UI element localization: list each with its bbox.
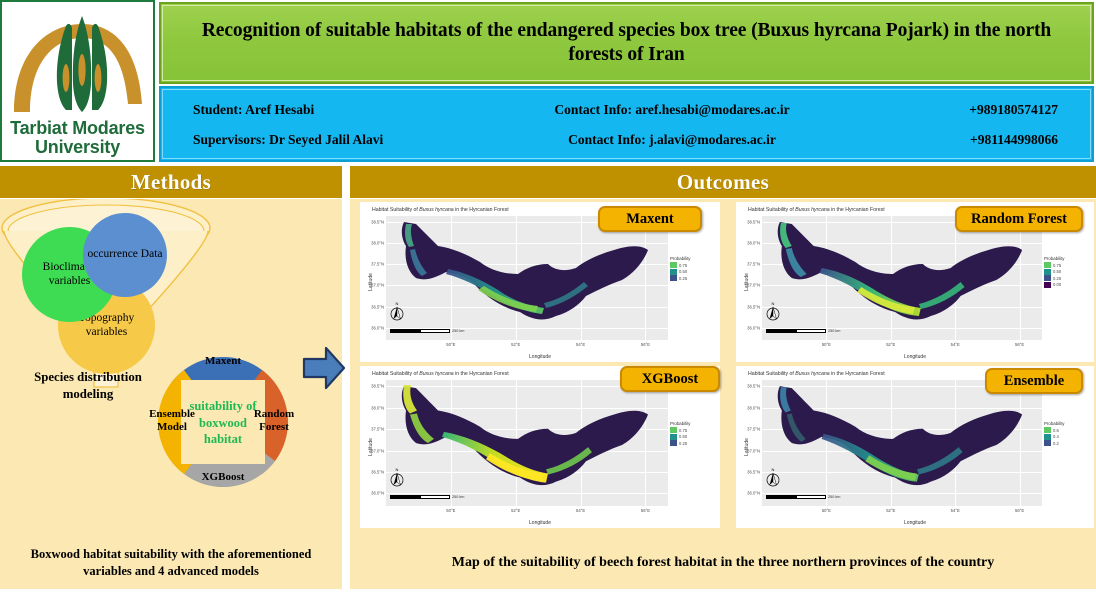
logo-line-1: Tarbiat Modares <box>2 119 153 137</box>
y-axis-label: Latitude <box>744 273 750 291</box>
x-tick: 50°E <box>822 508 831 513</box>
legend-swatch <box>670 434 677 440</box>
legend-item: 0.50 <box>670 269 716 275</box>
legend-swatch <box>670 427 677 433</box>
habitat-suitability-raster <box>386 380 668 506</box>
x-axis-label: Longitude <box>736 354 1094 360</box>
contact-phone: +989180574127 <box>837 102 1076 118</box>
habitat-suitability-raster <box>386 216 668 340</box>
legend-value: 0.00 <box>1053 282 1061 287</box>
y-tick: 36.0°N <box>747 325 760 330</box>
map-title-suffix: in the Hyrcanian Forest <box>454 371 509 377</box>
map-title: Habitat Suitability of Buxus hyrcana in … <box>372 207 509 213</box>
legend-item: 0.25 <box>1044 275 1090 281</box>
x-tick: 54°E <box>951 342 960 347</box>
legend-swatch <box>670 262 677 268</box>
page-title: Recognition of suitable habitats of the … <box>161 19 1092 67</box>
contact-person: Supervisors: Dr Seyed Jalil Alavi <box>177 132 507 148</box>
plot-area: 38.5°N 38.0°N 37.5°N 37.0°N 36.5°N 36.0°… <box>762 380 1042 506</box>
legend: Probability 0.75 0.50 0.25 0.00 <box>1044 256 1090 288</box>
map-title-suffix: in the Hyrcanian Forest <box>830 371 885 377</box>
y-tick: 36.5°N <box>371 469 384 474</box>
y-tick: 38.0°N <box>747 241 760 246</box>
contact-row: Supervisors: Dr Seyed Jalil Alavi Contac… <box>177 132 1076 148</box>
legend-swatch <box>1044 262 1051 268</box>
legend-item: 0.25 <box>670 275 716 281</box>
x-tick: 56°E <box>641 342 650 347</box>
legend-swatch <box>1044 275 1051 281</box>
y-tick: 38.0°N <box>747 405 760 410</box>
section-header-outcomes: Outcomes <box>350 166 1096 198</box>
contact-phone: +981144998066 <box>837 132 1076 148</box>
scale-bar: 250 km <box>766 328 842 333</box>
y-tick: 36.0°N <box>371 325 384 330</box>
legend-value: 0.75 <box>679 428 687 433</box>
legend-swatch <box>670 269 677 275</box>
x-tick: 52°E <box>511 342 520 347</box>
poster-title-band: Recognition of suitable habitats of the … <box>159 2 1094 84</box>
legend-item: 0.50 <box>670 434 716 440</box>
legend-value: 0.50 <box>1053 269 1061 274</box>
methods-caption: Boxwood habitat suitability with the afo… <box>0 537 342 589</box>
x-tick: 54°E <box>576 508 585 513</box>
scalebar-label: 250 km <box>452 329 464 333</box>
x-axis-label: Longitude <box>360 520 720 526</box>
svg-text:N: N <box>396 467 399 472</box>
map-title-prefix: Habitat Suitability of <box>748 371 795 377</box>
legend: Probability 0.6 0.4 0.2 <box>1044 421 1090 447</box>
north-arrow-icon: N <box>766 300 780 322</box>
legend-item: 0.6 <box>1044 427 1090 433</box>
y-axis-label: Latitude <box>744 438 750 456</box>
poster-header: Tarbiat Modares University Recognition o… <box>0 0 1096 164</box>
wheel-label-xgboost: XGBoost <box>188 471 258 484</box>
legend-value: 0.25 <box>679 276 687 281</box>
x-tick: 54°E <box>576 342 585 347</box>
y-axis-label: Latitude <box>368 273 374 291</box>
contact-email[interactable]: Contact Info: aref.hesabi@modares.ac.ir <box>507 102 837 118</box>
plot-area: 38.5°N 38.0°N 37.5°N 37.0°N 36.5°N 36.0°… <box>386 216 668 340</box>
model-wheel-diagram: suitability of boxwood habitat Maxent Ra… <box>140 339 306 505</box>
map-title: Habitat Suitability of Buxus hyrcana in … <box>372 371 509 377</box>
svg-text:N: N <box>772 467 775 472</box>
map-title-prefix: Habitat Suitability of <box>372 207 419 213</box>
section-header-methods: Methods <box>0 166 342 198</box>
y-tick: 38.5°N <box>371 384 384 389</box>
legend-value: 0.4 <box>1053 434 1059 439</box>
x-tick: 52°E <box>511 508 520 513</box>
scale-bar: 250 km <box>390 494 466 499</box>
scalebar-label: 250 km <box>828 329 840 333</box>
logo-wordmark: Tarbiat Modares University <box>2 119 153 156</box>
model-badge-maxent[interactable]: Maxent <box>598 206 702 232</box>
y-tick: 38.5°N <box>747 220 760 225</box>
map-title-species: Buxus hyrcana <box>795 207 829 213</box>
legend: Probability 0.75 0.50 0.25 <box>670 256 716 282</box>
wheel-label-ensemble: Ensemble Model <box>144 408 200 433</box>
map-title-species: Buxus hyrcana <box>419 207 453 213</box>
y-tick: 36.0°N <box>747 491 760 496</box>
x-tick: 56°E <box>641 508 650 513</box>
y-tick: 36.5°N <box>371 304 384 309</box>
legend-value: 0.6 <box>1053 428 1059 433</box>
funnel-label-occurrence: occurrence Data <box>87 248 162 261</box>
legend-swatch <box>1044 427 1051 433</box>
model-badge-ensemble[interactable]: Ensemble <box>985 368 1083 394</box>
legend-value: 0.2 <box>1053 441 1059 446</box>
contact-row: Student: Aref Hesabi Contact Info: aref.… <box>177 102 1076 118</box>
svg-text:N: N <box>396 301 399 306</box>
map-title-prefix: Habitat Suitability of <box>372 371 419 377</box>
legend-swatch <box>1044 434 1051 440</box>
legend-title: Probability <box>1044 421 1090 426</box>
legend-item: 0.75 <box>670 262 716 268</box>
x-tick: 56°E <box>1015 342 1024 347</box>
legend-value: 0.25 <box>679 441 687 446</box>
x-tick: 50°E <box>822 342 831 347</box>
y-tick: 37.5°N <box>747 427 760 432</box>
funnel-circle-occurrence: occurrence Data <box>83 213 167 297</box>
y-tick: 36.0°N <box>371 491 384 496</box>
legend-title: Probability <box>670 421 716 426</box>
habitat-suitability-raster <box>762 380 1042 506</box>
contact-email[interactable]: Contact Info: j.alavi@modares.ac.ir <box>507 132 837 148</box>
legend-title: Probability <box>670 256 716 261</box>
north-arrow-icon: N <box>766 466 780 488</box>
north-arrow-icon: N <box>390 466 404 488</box>
plot-area: 38.5°N 38.0°N 37.5°N 37.0°N 36.5°N 36.0°… <box>762 216 1042 340</box>
legend-value: 0.25 <box>1053 276 1061 281</box>
map-title-suffix: in the Hyrcanian Forest <box>454 207 509 213</box>
legend-item: 0.4 <box>1044 434 1090 440</box>
legend-item: 0.75 <box>670 427 716 433</box>
y-tick: 38.5°N <box>371 220 384 225</box>
y-tick: 37.5°N <box>747 262 760 267</box>
legend-item: 0.75 <box>1044 262 1090 268</box>
map-title: Habitat Suitability of Buxus hyrcana in … <box>748 371 885 377</box>
wheel-label-random-forest: Random Forest <box>246 408 302 433</box>
x-tick: 54°E <box>951 508 960 513</box>
y-tick: 36.5°N <box>747 304 760 309</box>
x-tick: 52°E <box>886 342 895 347</box>
y-tick: 36.5°N <box>747 469 760 474</box>
legend-swatch <box>1044 269 1051 275</box>
legend-item: 0.00 <box>1044 282 1090 288</box>
x-tick: 50°E <box>446 342 455 347</box>
x-axis-label: Longitude <box>360 354 720 360</box>
y-tick: 37.5°N <box>371 427 384 432</box>
legend-title: Probability <box>1044 256 1090 261</box>
header-right: Recognition of suitable habitats of the … <box>155 0 1096 164</box>
legend-value: 0.50 <box>679 434 687 439</box>
methods-panel: Topography variables Bioclimatic variabl… <box>0 199 342 537</box>
contact-person: Student: Aref Hesabi <box>177 102 507 118</box>
wheel-label-maxent: Maxent <box>188 355 258 368</box>
scale-bar: 250 km <box>766 494 842 499</box>
x-axis-label: Longitude <box>736 520 1094 526</box>
x-tick: 56°E <box>1015 508 1024 513</box>
map-title-species: Buxus hyrcana <box>795 371 829 377</box>
map-title-species: Buxus hyrcana <box>419 371 453 377</box>
map-title-prefix: Habitat Suitability of <box>748 207 795 213</box>
legend-item: 0.2 <box>1044 440 1090 446</box>
map-title: Habitat Suitability of Buxus hyrcana in … <box>748 207 885 213</box>
y-tick: 37.5°N <box>371 262 384 267</box>
plot-area: 38.5°N 38.0°N 37.5°N 37.0°N 36.5°N 36.0°… <box>386 380 668 506</box>
scalebar-label: 250 km <box>828 495 840 499</box>
y-tick: 38.0°N <box>371 405 384 410</box>
legend-swatch <box>1044 282 1051 288</box>
x-tick: 50°E <box>446 508 455 513</box>
legend: Probability 0.75 0.50 0.25 <box>670 421 716 447</box>
map-title-suffix: in the Hyrcanian Forest <box>830 207 885 213</box>
model-badge-random-forest[interactable]: Random Forest <box>955 206 1083 232</box>
model-badge-xgboost[interactable]: XGBoost <box>620 366 720 392</box>
right-arrow-icon <box>302 345 346 391</box>
legend-value: 0.50 <box>679 269 687 274</box>
svg-text:N: N <box>772 301 775 306</box>
legend-item: 0.50 <box>1044 269 1090 275</box>
y-tick: 38.0°N <box>371 241 384 246</box>
x-tick: 52°E <box>886 508 895 513</box>
y-tick: 38.5°N <box>747 384 760 389</box>
poster-root: Tarbiat Modares University Recognition o… <box>0 0 1096 595</box>
outcomes-caption: Map of the suitability of beech forest h… <box>350 537 1096 589</box>
y-axis-label: Latitude <box>368 438 374 456</box>
logo-line-2: University <box>2 138 153 156</box>
scale-bar: 250 km <box>390 328 466 333</box>
legend-swatch <box>1044 440 1051 446</box>
legend-item: 0.25 <box>670 440 716 446</box>
legend-value: 0.75 <box>1053 263 1061 268</box>
legend-value: 0.75 <box>679 263 687 268</box>
legend-swatch <box>670 275 677 281</box>
north-arrow-icon: N <box>390 300 404 322</box>
legend-swatch <box>670 440 677 446</box>
arch-and-tulips-icon <box>2 8 153 116</box>
scalebar-label: 250 km <box>452 495 464 499</box>
contact-band: Student: Aref Hesabi Contact Info: aref.… <box>159 86 1094 162</box>
university-logo: Tarbiat Modares University <box>0 0 155 162</box>
habitat-suitability-raster <box>762 216 1042 340</box>
